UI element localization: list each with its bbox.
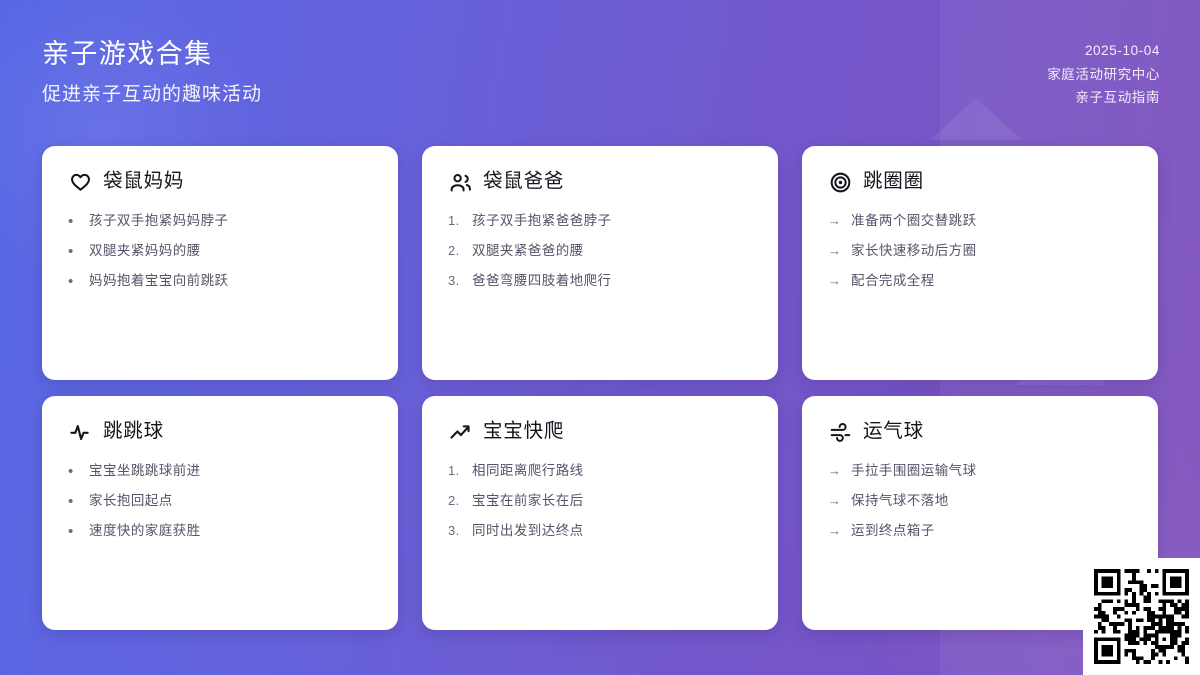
list-marker: → xyxy=(828,242,842,260)
target-icon xyxy=(828,170,852,194)
card-step-list: •孩子双手抱紧妈妈脖子•双腿夹紧妈妈的腰•妈妈抱着宝宝向前跳跃 xyxy=(68,212,372,291)
card-step-list: •宝宝坐跳跳球前进•家长抱回起点•速度快的家庭获胜 xyxy=(68,462,372,541)
page-title: 亲子游戏合集 xyxy=(42,38,262,70)
card-title: 跳跳球 xyxy=(103,421,164,442)
list-item: •宝宝坐跳跳球前进 xyxy=(68,462,372,480)
slide-header: 亲子游戏合集 促进亲子互动的趣味活动 2025-10-04 家庭活动研究中心 亲… xyxy=(0,0,1200,107)
card-header: 袋鼠爸爸 xyxy=(448,170,752,194)
list-item: →家长快速移动后方圈 xyxy=(828,242,1132,260)
list-marker: 3. xyxy=(448,272,463,290)
qr-code-icon xyxy=(1094,569,1189,664)
list-item-text: 宝宝坐跳跳球前进 xyxy=(89,462,372,480)
list-marker: 3. xyxy=(448,522,463,540)
list-marker: → xyxy=(828,272,842,290)
list-marker: 2. xyxy=(448,242,463,260)
list-marker: → xyxy=(828,522,842,540)
list-item-text: 手拉手围圈运输气球 xyxy=(851,462,1132,480)
heart-icon xyxy=(68,170,92,194)
list-item: •孩子双手抱紧妈妈脖子 xyxy=(68,212,372,230)
header-meta: 2025-10-04 家庭活动研究中心 亲子互动指南 xyxy=(1047,38,1160,107)
card-step-list: 1.孩子双手抱紧爸爸脖子2.双腿夹紧爸爸的腰3.爸爸弯腰四肢着地爬行 xyxy=(448,212,752,291)
activity-card[interactable]: 袋鼠妈妈•孩子双手抱紧妈妈脖子•双腿夹紧妈妈的腰•妈妈抱着宝宝向前跳跃 xyxy=(42,146,398,380)
activity-card[interactable]: 袋鼠爸爸1.孩子双手抱紧爸爸脖子2.双腿夹紧爸爸的腰3.爸爸弯腰四肢着地爬行 xyxy=(422,146,778,380)
list-item: 3.同时出发到达终点 xyxy=(448,522,752,540)
list-item-text: 准备两个圈交替跳跃 xyxy=(851,212,1132,230)
list-item-text: 孩子双手抱紧爸爸脖子 xyxy=(472,212,752,230)
activity-card[interactable]: 宝宝快爬1.相同距离爬行路线2.宝宝在前家长在后3.同时出发到达终点 xyxy=(422,396,778,630)
list-marker: • xyxy=(68,214,80,229)
list-item-text: 家长抱回起点 xyxy=(89,492,372,510)
meta-date: 2025-10-04 xyxy=(1085,42,1160,60)
list-marker: → xyxy=(828,212,842,230)
list-marker: • xyxy=(68,464,80,479)
list-item-text: 运到终点箱子 xyxy=(851,522,1132,540)
list-item-text: 速度快的家庭获胜 xyxy=(89,522,372,540)
card-title: 袋鼠妈妈 xyxy=(103,171,184,192)
list-item: 3.爸爸弯腰四肢着地爬行 xyxy=(448,272,752,290)
list-marker: 1. xyxy=(448,462,463,480)
slide-root: 亲子游戏合集 促进亲子互动的趣味活动 2025-10-04 家庭活动研究中心 亲… xyxy=(0,0,1200,675)
title-block: 亲子游戏合集 促进亲子互动的趣味活动 xyxy=(42,38,262,107)
card-title: 跳圈圈 xyxy=(863,171,924,192)
card-title: 宝宝快爬 xyxy=(483,421,564,442)
list-item-text: 爸爸弯腰四肢着地爬行 xyxy=(472,272,752,290)
list-item-text: 孩子双手抱紧妈妈脖子 xyxy=(89,212,372,230)
card-title: 袋鼠爸爸 xyxy=(483,171,564,192)
list-marker: • xyxy=(68,524,80,539)
card-header: 跳跳球 xyxy=(68,420,372,444)
list-item: 2.宝宝在前家长在后 xyxy=(448,492,752,510)
card-title: 运气球 xyxy=(863,421,924,442)
list-item-text: 保持气球不落地 xyxy=(851,492,1132,510)
list-item: 2.双腿夹紧爸爸的腰 xyxy=(448,242,752,260)
card-step-list: →准备两个圈交替跳跃→家长快速移动后方圈→配合完成全程 xyxy=(828,212,1132,291)
list-item: →准备两个圈交替跳跃 xyxy=(828,212,1132,230)
list-item: →手拉手围圈运输气球 xyxy=(828,462,1132,480)
meta-category: 亲子互动指南 xyxy=(1075,89,1160,107)
card-step-list: →手拉手围圈运输气球→保持气球不落地→运到终点箱子 xyxy=(828,462,1132,541)
qr-code-panel[interactable] xyxy=(1083,558,1200,675)
list-item-text: 同时出发到达终点 xyxy=(472,522,752,540)
meta-organization: 家庭活动研究中心 xyxy=(1047,66,1160,84)
page-subtitle: 促进亲子互动的趣味活动 xyxy=(42,84,262,107)
list-marker: • xyxy=(68,244,80,259)
list-item: •妈妈抱着宝宝向前跳跃 xyxy=(68,272,372,290)
card-grid: 袋鼠妈妈•孩子双手抱紧妈妈脖子•双腿夹紧妈妈的腰•妈妈抱着宝宝向前跳跃袋鼠爸爸1… xyxy=(42,146,1158,630)
list-item-text: 双腿夹紧妈妈的腰 xyxy=(89,242,372,260)
users-icon xyxy=(448,170,472,194)
list-item-text: 双腿夹紧爸爸的腰 xyxy=(472,242,752,260)
list-item: •家长抱回起点 xyxy=(68,492,372,510)
list-item-text: 家长快速移动后方圈 xyxy=(851,242,1132,260)
list-marker: → xyxy=(828,462,842,480)
list-item-text: 妈妈抱着宝宝向前跳跃 xyxy=(89,272,372,290)
card-step-list: 1.相同距离爬行路线2.宝宝在前家长在后3.同时出发到达终点 xyxy=(448,462,752,541)
activity-icon xyxy=(68,420,92,444)
list-item: 1.相同距离爬行路线 xyxy=(448,462,752,480)
list-marker: 2. xyxy=(448,492,463,510)
trending-up-icon xyxy=(448,420,472,444)
list-item-text: 配合完成全程 xyxy=(851,272,1132,290)
list-item: 1.孩子双手抱紧爸爸脖子 xyxy=(448,212,752,230)
list-item-text: 相同距离爬行路线 xyxy=(472,462,752,480)
list-marker: 1. xyxy=(448,212,463,230)
card-header: 袋鼠妈妈 xyxy=(68,170,372,194)
list-item: →运到终点箱子 xyxy=(828,522,1132,540)
activity-card[interactable]: 跳跳球•宝宝坐跳跳球前进•家长抱回起点•速度快的家庭获胜 xyxy=(42,396,398,630)
list-marker: • xyxy=(68,274,80,289)
list-item: •双腿夹紧妈妈的腰 xyxy=(68,242,372,260)
list-marker: → xyxy=(828,492,842,510)
list-item: •速度快的家庭获胜 xyxy=(68,522,372,540)
list-item: →配合完成全程 xyxy=(828,272,1132,290)
card-header: 跳圈圈 xyxy=(828,170,1132,194)
activity-card[interactable]: 跳圈圈→准备两个圈交替跳跃→家长快速移动后方圈→配合完成全程 xyxy=(802,146,1158,380)
list-item: →保持气球不落地 xyxy=(828,492,1132,510)
card-header: 宝宝快爬 xyxy=(448,420,752,444)
card-header: 运气球 xyxy=(828,420,1132,444)
wind-icon xyxy=(828,420,852,444)
list-marker: • xyxy=(68,494,80,509)
list-item-text: 宝宝在前家长在后 xyxy=(472,492,752,510)
